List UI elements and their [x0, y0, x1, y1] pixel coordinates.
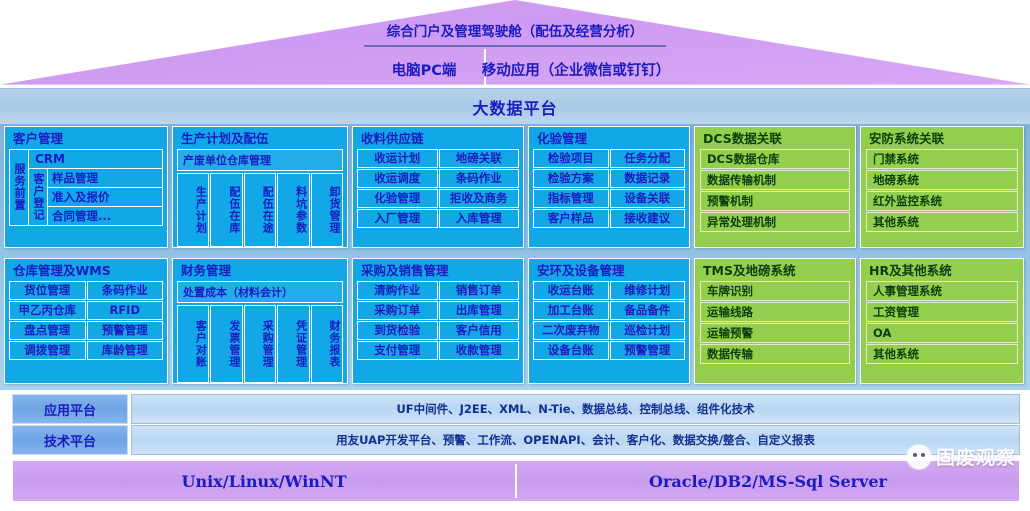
grid-item[interactable]: 检验方案 [533, 169, 609, 188]
channel-mobile[interactable]: 移动应用（企业微信或钉钉） [486, 47, 666, 92]
card-title: 采购及销售管理 [355, 261, 521, 281]
channel-pc[interactable]: 电脑PC端 [364, 47, 484, 92]
list-item[interactable]: 合同管理... [48, 207, 162, 225]
list-item[interactable]: 数据传输机制 [700, 170, 850, 190]
card-safety-equipment-management[interactable]: 安环及设备管理 收运台账 维修计划 加工台账 备品备件 二次废弃物 巡检计划 设… [528, 258, 690, 384]
card-warehouse-wms[interactable]: 仓库管理及WMS 货位管理 条码作业 甲乙丙仓库 RFID 盘点管理 预警管理 … [4, 258, 168, 384]
card-title: 财务管理 [175, 261, 345, 281]
grid-item[interactable]: 条码作业 [439, 169, 520, 188]
grid-item[interactable]: 入库管理 [439, 209, 520, 228]
grid-item[interactable]: 收款管理 [439, 341, 520, 360]
item-grid: 收运台账 维修计划 加工台账 备品备件 二次废弃物 巡检计划 设备台账 预警管理 [533, 281, 685, 360]
list-item[interactable]: 运输预警 [700, 323, 850, 343]
card-material-supply-chain[interactable]: 收料供应链 收运计划 地磅关联 收运调度 条码作业 化验管理 拒收及商务 入厂管… [352, 126, 524, 248]
vertical-cell[interactable]: 凭证管理 [277, 305, 309, 383]
portal-dashboard-label: 综合门户及管理驾驶舱（配伍及经营分析） [355, 15, 675, 45]
grid-item[interactable]: 收运台账 [533, 281, 609, 300]
card-title: 客户管理 [7, 129, 165, 149]
grid-item[interactable]: 收运计划 [357, 149, 438, 168]
card-title: 仓库管理及WMS [7, 261, 165, 281]
card-dcs-data-integration[interactable]: DCS数据关联 DCS数据仓库 数据传输机制 预警机制 异常处理机制 [694, 126, 856, 248]
grid-item[interactable]: 货位管理 [9, 281, 86, 300]
card-subbar[interactable]: 处置成本（材料会计） [177, 281, 343, 303]
card-title: HR及其他系统 [863, 261, 1021, 281]
item-list: 门禁系统 地磅系统 红外监控系统 其他系统 [866, 149, 1018, 232]
list-item[interactable]: 门禁系统 [866, 149, 1018, 169]
vertical-cell[interactable]: 料坑参数 [277, 173, 309, 247]
grid-item[interactable]: 销售订单 [439, 281, 520, 300]
grid-item[interactable]: 条码作业 [87, 281, 164, 300]
grid-item[interactable]: 采购订单 [357, 301, 438, 320]
grid-item[interactable]: 到货检验 [357, 321, 438, 340]
roof-channel-row: 电脑PC端 移动应用（企业微信或钉钉） [364, 47, 666, 92]
application-platform-content: UF中间件、J2EE、XML、N-Tie、数据总线、控制总线、组件化技术 [131, 394, 1020, 424]
crm-row: 客户登记 样品管理 准入及报价 合同管理... [29, 169, 162, 225]
crm-label[interactable]: CRM [29, 150, 162, 169]
list-item[interactable]: 其他系统 [866, 344, 1018, 364]
grid-item[interactable]: 客户信用 [439, 321, 520, 340]
vertical-cell[interactable]: 配伍在库 [210, 173, 242, 247]
grid-item[interactable]: 客户样品 [533, 209, 609, 228]
vertical-cell[interactable]: 生产计划 [177, 173, 209, 247]
card-title: DCS数据关联 [697, 129, 853, 149]
grid-item[interactable]: 接收建议 [610, 209, 686, 228]
list-item[interactable]: DCS数据仓库 [700, 149, 850, 169]
card-production-plan[interactable]: 生产计划及配伍 产废单位仓库管理 生产计划 配伍在库 配伍在途 料坑参数 卸货管… [172, 126, 348, 248]
item-grid: 清购作业 销售订单 采购订单 出库管理 到货检验 客户信用 支付管理 收款管理 [357, 281, 519, 360]
crm-block: CRM 客户登记 样品管理 准入及报价 合同管理... [29, 149, 163, 226]
vertical-column-group: 客户对账 发票管理 采购管理 凭证管理 财务报表 [177, 305, 343, 383]
vertical-cell[interactable]: 发票管理 [210, 305, 242, 383]
list-item[interactable]: 人事管理系统 [866, 281, 1018, 301]
vertical-cell[interactable]: 采购管理 [244, 305, 276, 383]
grid-item[interactable]: 盘点管理 [9, 321, 86, 340]
grid-item[interactable]: 清购作业 [357, 281, 438, 300]
card-body: 服务前置 CRM 客户登记 样品管理 准入及报价 合同管理... [9, 149, 163, 226]
grid-item[interactable]: 预警管理 [610, 341, 686, 360]
card-finance-management[interactable]: 财务管理 处置成本（材料会计） 客户对账 发票管理 采购管理 凭证管理 财务报表 [172, 258, 348, 384]
list-item[interactable]: 异常处理机制 [700, 212, 850, 232]
card-subbar[interactable]: 产废单位仓库管理 [177, 149, 343, 171]
list-item[interactable]: 红外监控系统 [866, 191, 1018, 211]
item-grid: 货位管理 条码作业 甲乙丙仓库 RFID 盘点管理 预警管理 调拨管理 库龄管理 [9, 281, 163, 360]
grid-item[interactable]: 入厂管理 [357, 209, 438, 228]
card-tms-weighbridge[interactable]: TMS及地磅系统 车牌识别 运输线路 运输预警 数据传输 [694, 258, 856, 384]
list-item[interactable]: 运输线路 [700, 302, 850, 322]
application-platform-label[interactable]: 应用平台 [12, 394, 128, 424]
grid-item[interactable]: 甲乙丙仓库 [9, 301, 86, 320]
grid-item[interactable]: 收运调度 [357, 169, 438, 188]
vertical-cell[interactable]: 卸货管理 [311, 173, 343, 247]
card-title: 生产计划及配伍 [175, 129, 345, 149]
list-item[interactable]: 地磅系统 [866, 170, 1018, 190]
grid-item[interactable]: 化验管理 [357, 189, 438, 208]
card-title: 安防系统关联 [863, 129, 1021, 149]
vertical-cell[interactable]: 客户对账 [177, 305, 209, 383]
grid-item[interactable]: 预警管理 [87, 321, 164, 340]
list-item[interactable]: 工资管理 [866, 302, 1018, 322]
vertical-cell[interactable]: 财务报表 [311, 305, 343, 383]
bigdata-platform-label: 大数据平台 [472, 95, 557, 119]
infrastructure-footer: Unix/Linux/WinNT Oracle/DB2/MS-Sql Serve… [12, 460, 1020, 502]
card-customer-management[interactable]: 客户管理 服务前置 CRM 客户登记 样品管理 准入及报价 合同管理... [4, 126, 168, 248]
service-frontend-vertical-label[interactable]: 服务前置 [9, 149, 29, 226]
grid-item[interactable]: 指标管理 [533, 189, 609, 208]
card-title: 安环及设备管理 [531, 261, 687, 281]
grid-item[interactable]: 备品备件 [610, 301, 686, 320]
list-item[interactable]: 样品管理 [48, 169, 162, 188]
item-list: DCS数据仓库 数据传输机制 预警机制 异常处理机制 [700, 149, 850, 232]
grid-item[interactable]: 设备台账 [533, 341, 609, 360]
card-title: TMS及地磅系统 [697, 261, 853, 281]
grid-item[interactable]: RFID [87, 301, 164, 320]
card-title: 化验管理 [531, 129, 687, 149]
technology-platform-label[interactable]: 技术平台 [12, 425, 128, 455]
vertical-column-group: 生产计划 配伍在库 配伍在途 料坑参数 卸货管理 [177, 173, 343, 247]
grid-item[interactable]: 库龄管理 [87, 341, 164, 360]
list-item[interactable]: 车牌识别 [700, 281, 850, 301]
architecture-diagram: 综合门户及管理驾驶舱（配伍及经营分析） 电脑PC端 移动应用（企业微信或钉钉） … [0, 0, 1030, 511]
application-platform-row: 应用平台 UF中间件、J2EE、XML、N-Tie、数据总线、控制总线、组件化技… [12, 394, 1020, 424]
card-lab-testing-management[interactable]: 化验管理 检验项目 任务分配 检验方案 数据记录 指标管理 设备关联 客户样品 … [528, 126, 690, 248]
grid-item[interactable]: 设备关联 [610, 189, 686, 208]
grid-item[interactable]: 加工台账 [533, 301, 609, 320]
database-label: Oracle/DB2/MS-Sql Server [517, 461, 1019, 501]
card-title: 收料供应链 [355, 129, 521, 149]
grid-item[interactable]: 数据记录 [610, 169, 686, 188]
item-grid: 检验项目 任务分配 检验方案 数据记录 指标管理 设备关联 客户样品 接收建议 [533, 149, 685, 228]
technology-platform-row: 技术平台 用友UAP开发平台、预警、工作流、OPENAPI、会计、客户化、数据交… [12, 425, 1020, 455]
card-hr-other-systems[interactable]: HR及其他系统 人事管理系统 工资管理 OA 其他系统 [860, 258, 1024, 384]
list-item[interactable]: OA [866, 323, 1018, 343]
vertical-cell[interactable]: 配伍在途 [244, 173, 276, 247]
grid-item[interactable]: 拒收及商务 [439, 189, 520, 208]
bigdata-platform-bar: 大数据平台 [0, 88, 1030, 124]
grid-item[interactable]: 支付管理 [357, 341, 438, 360]
card-purchase-sales-management[interactable]: 采购及销售管理 清购作业 销售订单 采购订单 出库管理 到货检验 客户信用 支付… [352, 258, 524, 384]
crm-item-list: 样品管理 准入及报价 合同管理... [48, 169, 162, 225]
list-item[interactable]: 其他系统 [866, 212, 1018, 232]
item-list: 人事管理系统 工资管理 OA 其他系统 [866, 281, 1018, 364]
pyramid-roof: 综合门户及管理驾驶舱（配伍及经营分析） 电脑PC端 移动应用（企业微信或钉钉） [0, 0, 1030, 92]
item-list: 车牌识别 运输线路 运输预警 数据传输 [700, 281, 850, 364]
grid-item[interactable]: 调拨管理 [9, 341, 86, 360]
os-label: Unix/Linux/WinNT [13, 461, 515, 501]
grid-item[interactable]: 二次废弃物 [533, 321, 609, 340]
customer-registration-vertical-label[interactable]: 客户登记 [29, 169, 48, 225]
grid-item[interactable]: 任务分配 [610, 149, 686, 168]
grid-item[interactable]: 维修计划 [610, 281, 686, 300]
list-item[interactable]: 数据传输 [700, 344, 850, 364]
list-item[interactable]: 准入及报价 [48, 188, 162, 207]
card-security-system-integration[interactable]: 安防系统关联 门禁系统 地磅系统 红外监控系统 其他系统 [860, 126, 1024, 248]
bottom-strip [0, 504, 1030, 511]
grid-item[interactable]: 巡检计划 [610, 321, 686, 340]
list-item[interactable]: 预警机制 [700, 191, 850, 211]
item-grid: 收运计划 地磅关联 收运调度 条码作业 化验管理 拒收及商务 入厂管理 入库管理 [357, 149, 519, 228]
technology-platform-content: 用友UAP开发平台、预警、工作流、OPENAPI、会计、客户化、数据交换/整合、… [131, 425, 1020, 455]
grid-item[interactable]: 地磅关联 [439, 149, 520, 168]
grid-item[interactable]: 出库管理 [439, 301, 520, 320]
grid-item[interactable]: 检验项目 [533, 149, 609, 168]
